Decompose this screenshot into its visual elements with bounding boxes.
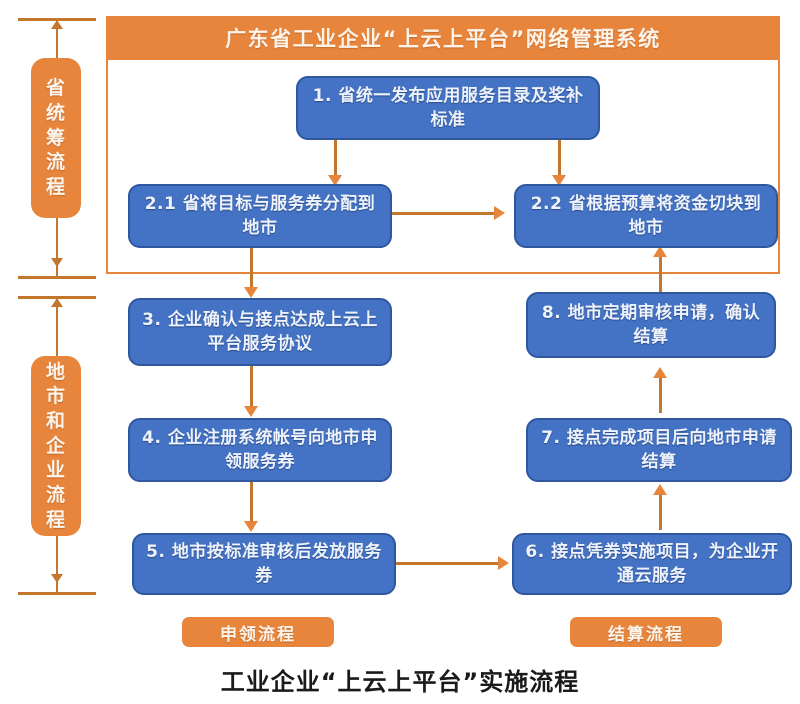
connector-3-to-4-vert <box>250 366 253 409</box>
connector-4-to-5-vert <box>250 482 253 524</box>
connector-3-to-4-arrowhead <box>244 406 258 417</box>
connector-21-to-22-horiz <box>392 212 496 215</box>
connector-1-to-21-vert <box>334 140 337 178</box>
process-box-5-label: 5. 地市按标准审核后发放服务券 <box>142 540 386 588</box>
process-box-8-label: 8. 地市定期审核申请，确认结算 <box>536 301 766 349</box>
phase-label-city-enterprise: 地市和企业流程 <box>31 356 81 536</box>
phase-rail-arrow-down-1 <box>51 258 63 267</box>
process-box-7[interactable]: 7. 接点完成项目后向地市申请结算 <box>526 418 792 482</box>
process-box-7-label: 7. 接点完成项目后向地市申请结算 <box>536 426 782 474</box>
flowchart-diagram: 省统筹流程 地市和企业流程 广东省工业企业“上云上平台”网络管理系统 1 <box>0 0 800 704</box>
process-box-1-label: 1. 省统一发布应用服务目录及奖补标准 <box>306 84 590 132</box>
process-box-8[interactable]: 8. 地市定期审核申请，确认结算 <box>526 292 776 358</box>
connector-21-to-3-vert <box>250 248 253 290</box>
tag-settlement-process[interactable]: 结算流程 <box>570 617 722 647</box>
connector-7-to-8-arrowhead <box>653 367 667 378</box>
connector-21-to-22-arrowhead <box>494 206 505 220</box>
connector-21-to-3-arrowhead <box>244 287 258 298</box>
connector-8-to-22-vert <box>659 252 662 292</box>
process-box-3-label: 3. 企业确认与接点达成上云上平台服务协议 <box>138 308 382 356</box>
connector-5-to-6-arrowhead <box>498 556 509 570</box>
process-box-4-label: 4. 企业注册系统帐号向地市申领服务券 <box>138 426 382 474</box>
process-box-1[interactable]: 1. 省统一发布应用服务目录及奖补标准 <box>296 76 600 140</box>
connector-5-to-6-horiz <box>396 562 500 565</box>
phase-label-province-text: 省统筹流程 <box>45 76 67 199</box>
diagram-caption: 工业企业“上云上平台”实施流程 <box>0 662 800 697</box>
process-box-6[interactable]: 6. 接点凭券实施项目，为企业开通云服务 <box>512 533 792 595</box>
process-box-2-2[interactable]: 2.2 省根据预算将资金切块到地市 <box>514 184 778 248</box>
phase-label-province: 省统筹流程 <box>31 58 81 218</box>
phase-rail-bottom-cap-2 <box>18 592 96 595</box>
province-container-header: 广东省工业企业“上云上平台”网络管理系统 <box>106 16 780 60</box>
phase-label-city-enterprise-text: 地市和企业流程 <box>45 360 67 533</box>
phase-rail-arrow-up-2 <box>51 298 63 307</box>
phase-rail-arrow-down-2 <box>51 574 63 583</box>
tag-settlement-process-label: 结算流程 <box>608 620 684 645</box>
process-box-2-1-label: 2.1 省将目标与服务券分配到地市 <box>138 192 382 240</box>
connector-6-to-7-vert <box>659 490 662 530</box>
phase-rail-bottom-cap-1 <box>18 276 96 279</box>
connector-7-to-8-vert <box>659 373 662 413</box>
tag-application-process[interactable]: 申领流程 <box>182 617 334 647</box>
connector-6-to-7-arrowhead <box>653 484 667 495</box>
process-box-2-1[interactable]: 2.1 省将目标与服务券分配到地市 <box>128 184 392 248</box>
tag-application-process-label: 申领流程 <box>220 620 296 645</box>
connector-4-to-5-arrowhead <box>244 521 258 532</box>
process-box-3[interactable]: 3. 企业确认与接点达成上云上平台服务协议 <box>128 298 392 366</box>
process-box-5[interactable]: 5. 地市按标准审核后发放服务券 <box>132 533 396 595</box>
process-box-6-label: 6. 接点凭券实施项目，为企业开通云服务 <box>522 540 782 588</box>
phase-rail-arrow-up-1 <box>51 20 63 29</box>
process-box-4[interactable]: 4. 企业注册系统帐号向地市申领服务券 <box>128 418 392 482</box>
connector-1-to-22-vert <box>558 140 561 178</box>
province-container-title: 广东省工业企业“上云上平台”网络管理系统 <box>225 23 661 53</box>
process-box-2-2-label: 2.2 省根据预算将资金切块到地市 <box>524 192 768 240</box>
